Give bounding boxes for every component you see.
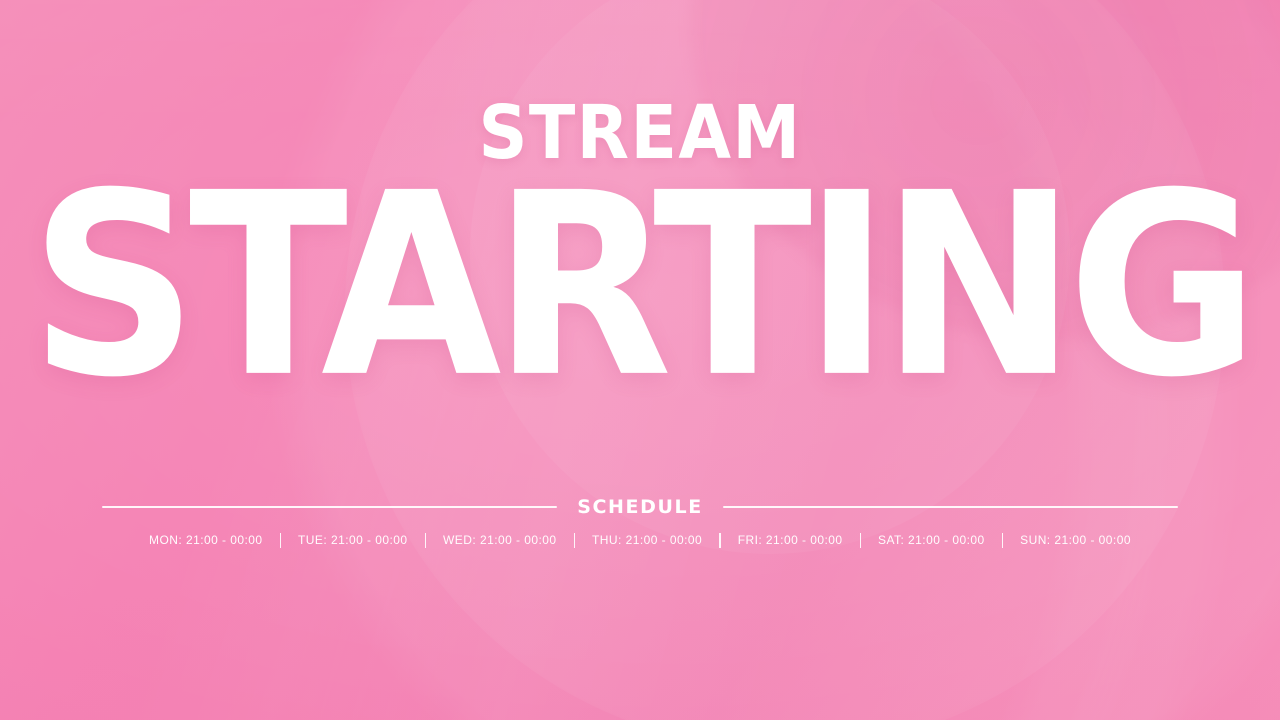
- schedule-rule-right: [723, 506, 1178, 508]
- stream-starting-overlay: STREAM STARTING SCHEDULE MON: 21:00 - 00…: [0, 0, 1280, 720]
- schedule-item-mon: MON: 21:00 - 00:00: [132, 532, 280, 548]
- schedule-rule-left: [102, 506, 557, 508]
- schedule-item-sat: SAT: 21:00 - 00:00: [861, 532, 1002, 548]
- headline-block: STREAM STARTING: [0, 96, 1280, 356]
- schedule-item-wed: WED: 21:00 - 00:00: [426, 532, 574, 548]
- schedule-item-thu: THU: 21:00 - 00:00: [575, 532, 719, 548]
- headline-line-starting-wrap: STARTING: [0, 166, 1280, 356]
- schedule-list: MON: 21:00 - 00:00TUE: 21:00 - 00:00WED:…: [0, 532, 1280, 548]
- schedule-item-fri: FRI: 21:00 - 00:00: [721, 532, 860, 548]
- headline-line-starting: STARTING: [13, 159, 1267, 416]
- schedule-item-sun: SUN: 21:00 - 00:00: [1003, 532, 1148, 548]
- schedule-header: SCHEDULE: [0, 496, 1280, 518]
- schedule-section: SCHEDULE MON: 21:00 - 00:00TUE: 21:00 - …: [0, 496, 1280, 548]
- schedule-title: SCHEDULE: [557, 496, 723, 518]
- schedule-item-tue: TUE: 21:00 - 00:00: [281, 532, 425, 548]
